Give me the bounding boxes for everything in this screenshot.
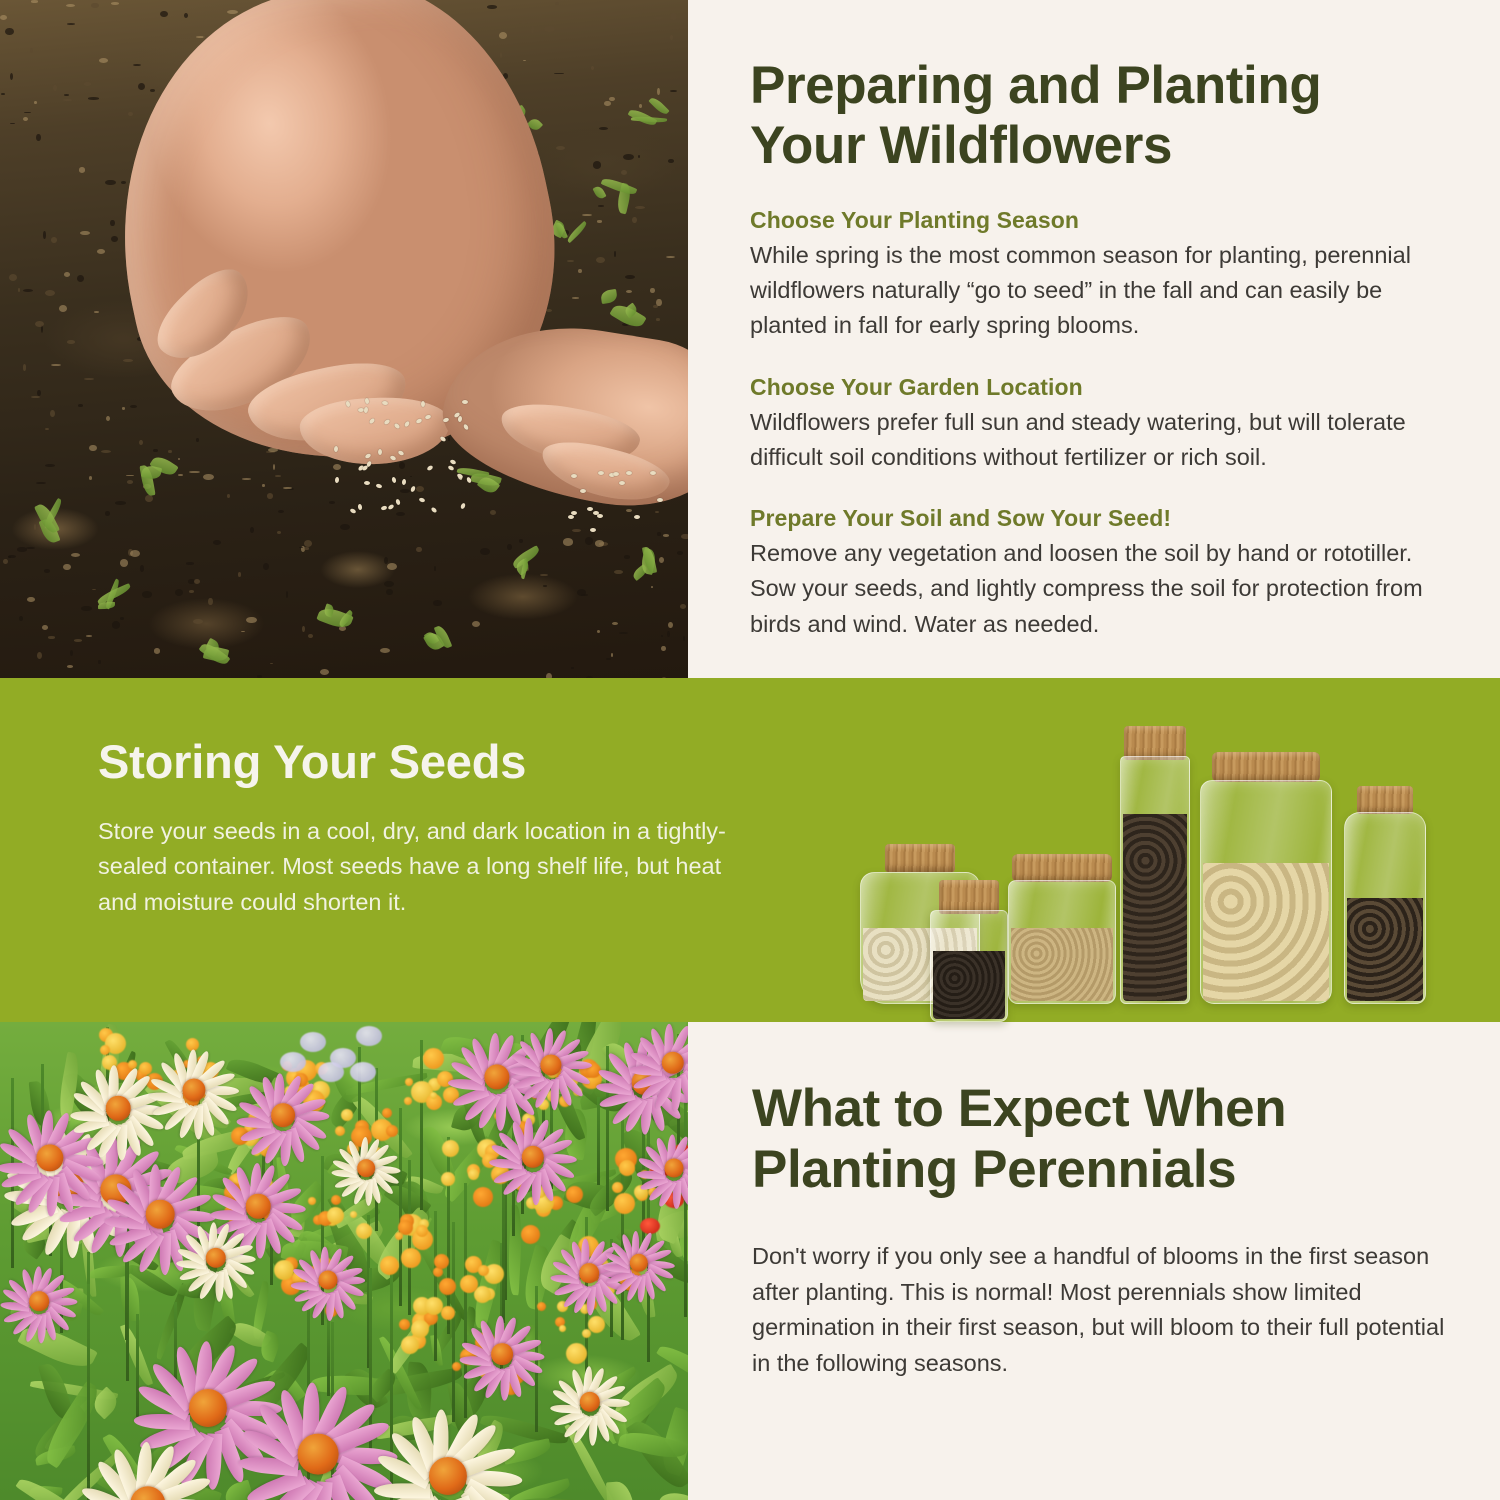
- coneflower: [248, 1080, 318, 1150]
- glass-body-5: [1200, 780, 1332, 1004]
- coneflower: [500, 1124, 566, 1190]
- coneflower: [612, 1236, 666, 1290]
- expect-text-column: What to Expect When Planting Perennials …: [752, 1022, 1482, 1382]
- seed-fill-tan: [1011, 928, 1113, 1001]
- glass-body-4: [1120, 756, 1190, 1004]
- coneflower: [470, 1322, 534, 1386]
- subheading-prepare-soil: Prepare Your Soil and Sow Your Seed!: [750, 505, 1470, 532]
- glass-body-3: [1008, 880, 1116, 1004]
- cork-lid-5: [1212, 752, 1320, 782]
- cork-lid-6: [1357, 786, 1413, 814]
- coneflower: [186, 1228, 246, 1288]
- subsection-prepare-soil: Prepare Your Soil and Sow Your Seed! Rem…: [750, 505, 1470, 642]
- infographic-page: Preparing and Planting Your Wildflowers …: [0, 0, 1500, 1500]
- body-what-to-expect: Don't worry if you only see a handful of…: [752, 1239, 1452, 1382]
- seed-fill-sunflower: [1347, 898, 1423, 1001]
- body-planting-season: While spring is the most common season f…: [750, 238, 1450, 344]
- section-what-to-expect: What to Expect When Planting Perennials …: [0, 1022, 1500, 1500]
- cork-lid-2: [939, 880, 999, 914]
- subheading-planting-season: Choose Your Planting Season: [750, 207, 1470, 234]
- body-storing-seeds: Store your seeds in a cool, dry, and dar…: [98, 814, 738, 921]
- photo-seed-jars: [852, 692, 1452, 1022]
- page-title-preparing: Preparing and Planting Your Wildflowers: [750, 56, 1430, 177]
- section-storing-seeds: Storing Your Seeds Store your seeds in a…: [0, 678, 1500, 1022]
- storing-text-column: Storing Your Seeds Store your seeds in a…: [98, 736, 758, 921]
- coneflower: [160, 1056, 228, 1124]
- subsection-garden-location: Choose Your Garden Location Wildflowers …: [750, 374, 1470, 476]
- coneflower: [560, 1372, 620, 1432]
- coneflower: [300, 1252, 356, 1308]
- coneflower: [640, 1030, 688, 1096]
- heading-storing-seeds: Storing Your Seeds: [98, 736, 758, 788]
- coneflower: [82, 1072, 154, 1144]
- jar-tan-seed: [1008, 854, 1116, 1004]
- cork-lid-1: [885, 844, 955, 872]
- planting-text-column: Preparing and Planting Your Wildflowers …: [750, 0, 1470, 678]
- coneflower: [340, 1142, 392, 1194]
- body-prepare-soil: Remove any vegetation and loosen the soi…: [750, 536, 1450, 642]
- jar-large-pumpkin-seeds: [1200, 752, 1332, 1004]
- subheading-garden-location: Choose Your Garden Location: [750, 374, 1470, 401]
- body-garden-location: Wildflowers prefer full sun and steady w…: [750, 405, 1450, 476]
- glass-body-2: [930, 910, 1008, 1022]
- section-preparing-planting: Preparing and Planting Your Wildflowers …: [0, 0, 1500, 678]
- coneflower: [520, 1034, 582, 1096]
- seed-fill-dark: [1123, 814, 1187, 1001]
- cork-lid-3: [1012, 854, 1112, 882]
- seed-fill-pumpkin: [1203, 863, 1329, 1001]
- jar-black-seed: [930, 880, 1008, 1022]
- jar-tall-tube-dark-seed: [1120, 726, 1190, 1004]
- photo-hand-sowing-seeds: [0, 0, 688, 678]
- coneflower: [646, 1140, 688, 1196]
- subsection-planting-season: Choose Your Planting Season While spring…: [750, 207, 1470, 344]
- seed-fill-black: [933, 951, 1005, 1019]
- glass-body-6: [1344, 812, 1426, 1004]
- coneflower: [258, 1394, 378, 1500]
- jar-bottle-sunflower-seeds: [1344, 786, 1426, 1004]
- photo-wildflower-meadow: [0, 1022, 688, 1500]
- coneflower: [10, 1272, 68, 1330]
- cork-lid-4: [1124, 726, 1186, 760]
- coneflower: [222, 1170, 294, 1242]
- heading-what-to-expect: What to Expect When Planting Perennials: [752, 1078, 1412, 1201]
